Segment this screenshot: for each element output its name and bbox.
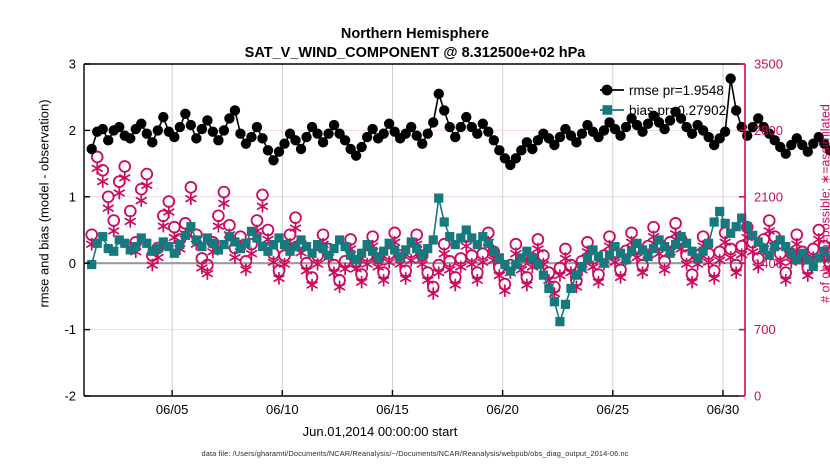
svg-text:bias pr=0.27902: bias pr=0.27902: [629, 103, 726, 118]
svg-text:2100: 2100: [754, 189, 783, 204]
svg-text:3500: 3500: [754, 57, 783, 72]
svg-text:06/30: 06/30: [707, 402, 740, 417]
svg-text:06/10: 06/10: [266, 402, 299, 417]
svg-text:-2: -2: [64, 389, 76, 404]
svg-text:-1: -1: [64, 322, 76, 337]
left-axis-ticks: 3210-1-2: [64, 57, 90, 404]
svg-text:0: 0: [69, 256, 76, 271]
svg-text:06/05: 06/05: [156, 402, 189, 417]
svg-text:3: 3: [69, 57, 76, 72]
svg-text:1: 1: [69, 189, 76, 204]
y-axis-label-left: rmse and bias (model - observation): [37, 54, 52, 354]
x-axis-label: Jun.01,2014 00:00:00 start: [0, 424, 760, 439]
svg-text:700: 700: [754, 322, 776, 337]
chart-legend[interactable]: rmse pr=1.9548bias pr=0.27902: [600, 83, 726, 118]
svg-text:06/20: 06/20: [486, 402, 519, 417]
chart-root: Northern Hemisphere SAT_V_WIND_COMPONENT…: [0, 0, 830, 470]
bottom-axis-ticks: 06/0506/1006/1506/2006/2506/30: [156, 390, 739, 417]
plot-canvas: 3210-1-2 35002800210014007000 06/0506/10…: [0, 0, 830, 470]
svg-text:06/15: 06/15: [376, 402, 409, 417]
y-axis-label-right: # of obs: o=possible; ∗=assimilated: [818, 54, 830, 354]
svg-text:rmse pr=1.9548: rmse pr=1.9548: [629, 83, 724, 98]
svg-text:06/25: 06/25: [597, 402, 630, 417]
svg-text:1400: 1400: [754, 256, 783, 271]
svg-text:2: 2: [69, 123, 76, 138]
svg-text:2800: 2800: [754, 123, 783, 138]
svg-text:0: 0: [754, 389, 761, 404]
data-file-footer: data file: /Users/gharamti/Documents/NCA…: [0, 449, 830, 458]
